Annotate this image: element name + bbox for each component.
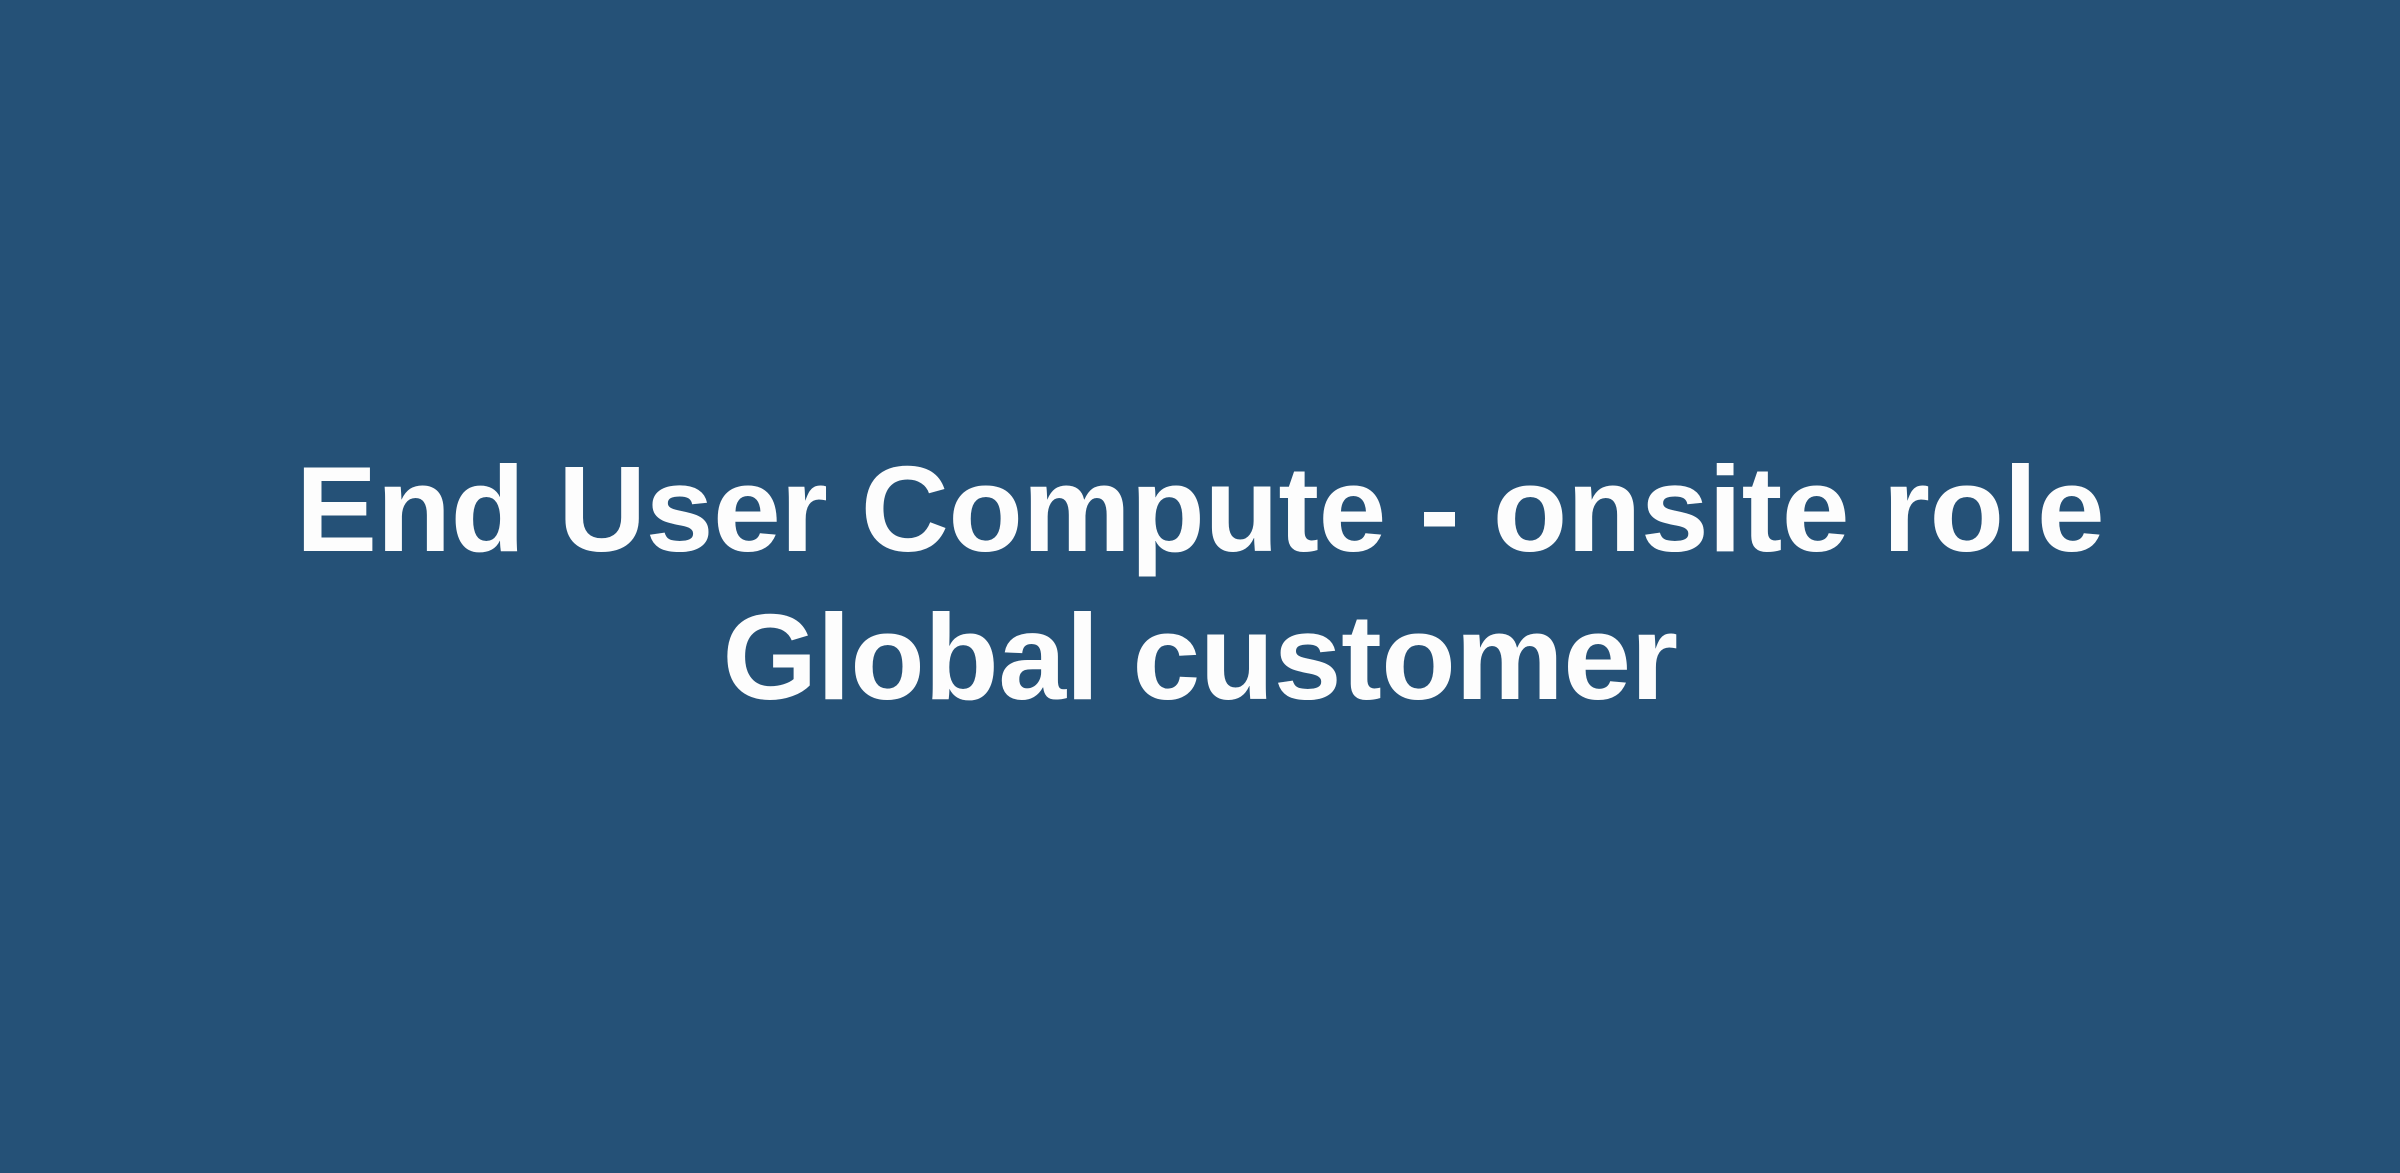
slide-title-line-2: Global customer: [230, 583, 2170, 731]
slide-title-line-1: End User Compute - onsite role: [230, 435, 2170, 583]
slide-title-block: End User Compute - onsite role Global cu…: [230, 435, 2170, 731]
title-slide: End User Compute - onsite role Global cu…: [0, 0, 2400, 1173]
